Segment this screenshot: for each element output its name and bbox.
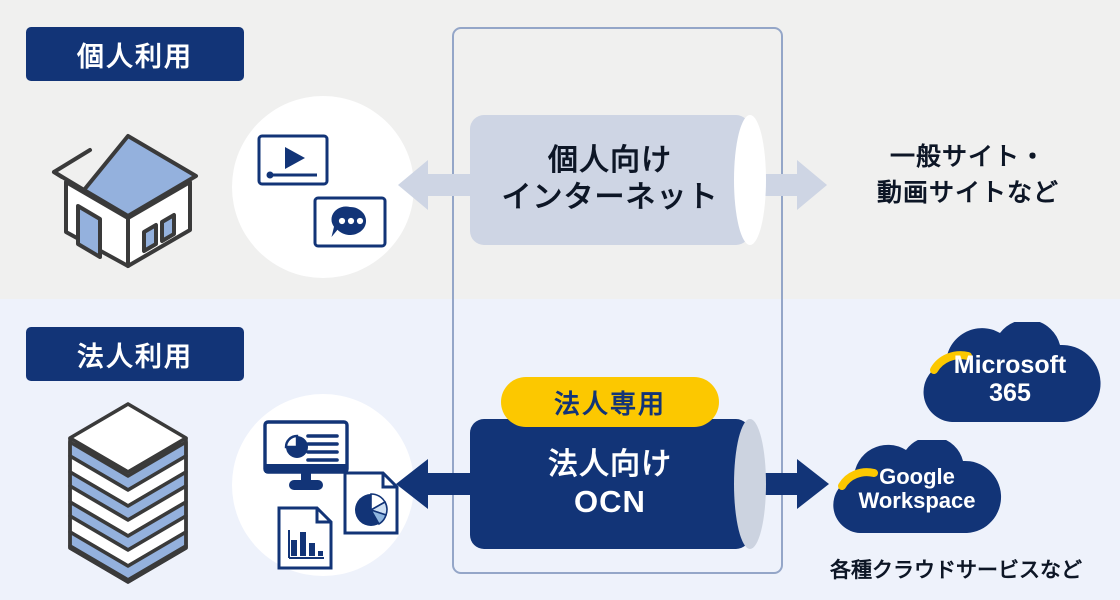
pie-chart-document-icon [342,470,400,536]
corporate-only-pill: 法人専用 [501,377,719,427]
cloud-google-workspace: Google Workspace [822,440,1012,536]
personal-usage-circle [232,96,414,278]
diagram-canvas: 個人利用 [0,0,1120,600]
cloud-label-line1: Microsoft [912,352,1108,380]
destination-line1: 一般サイト・ [843,140,1093,176]
pipe-label-line1: 個人向け [548,143,672,180]
dashboard-monitor-icon [263,420,349,496]
video-player-icon [257,134,329,186]
cloud-microsoft-365: Microsoft 365 [912,322,1108,426]
house-icon [44,120,212,270]
pipe-label-line1: 法人向け [548,447,672,484]
corporate-ocn-pipe: 法人向け OCN [470,419,750,549]
corporate-usage-badge: 法人利用 [26,327,244,381]
bar-chart-document-icon [276,505,334,571]
arrow-head [398,160,428,210]
pipe-label: 個人向け インターネット [470,115,750,245]
cloud-label-line1: Google [822,465,1012,489]
corporate-destination-caption: 各種クラウドサービスなど [806,556,1106,586]
pipe-label-line2: OCN [574,483,646,521]
cloud-label: Google Workspace [822,465,1012,513]
building-stack-icon [62,396,194,590]
arrow-head [797,160,827,210]
pipe-label-line2: インターネット [502,180,719,217]
cloud-label-line2: Workspace [822,489,1012,513]
personal-usage-badge: 個人利用 [26,27,244,81]
arrow-head [396,459,428,509]
personal-internet-pipe: 個人向け インターネット [470,115,750,245]
cloud-label: Microsoft 365 [912,352,1108,407]
pipe-label: 法人向け OCN [470,419,750,549]
chat-bubble-icon [313,196,387,248]
cloud-label-line2: 365 [912,380,1108,408]
personal-destination-label: 一般サイト・ 動画サイトなど [843,140,1093,211]
destination-line2: 動画サイトなど [843,176,1093,212]
